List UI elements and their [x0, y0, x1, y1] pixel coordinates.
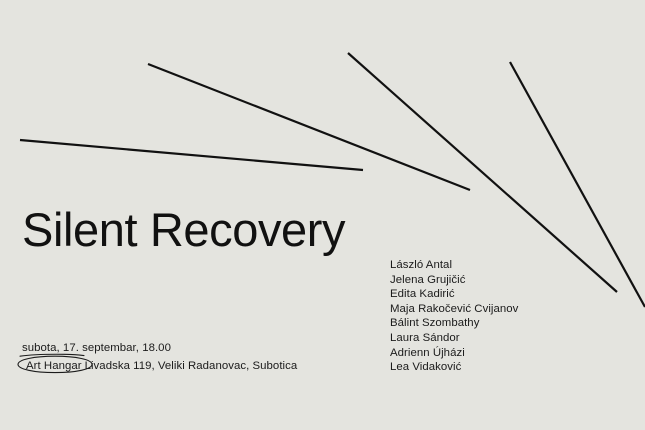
decorative-line-2 — [148, 64, 470, 190]
list-item: Jelena Grujičić — [390, 273, 518, 288]
list-item: Adrienn Újházi — [390, 346, 518, 361]
venue-name-text: Art Hangar — [26, 360, 82, 372]
event-venue-row: Art Hangar Livadska 119, Veliki Radanova… — [22, 358, 297, 376]
list-item: László Antal — [390, 258, 518, 273]
list-item: Lea Vidaković — [390, 360, 518, 375]
list-item: Laura Sándor — [390, 331, 518, 346]
poster-title: Silent Recovery — [22, 206, 345, 253]
poster-canvas: Silent Recovery László Antal Jelena Gruj… — [0, 0, 645, 430]
event-details: subota, 17. septembar, 18.00 Art Hangar … — [22, 340, 297, 375]
list-item: Maja Rakočević Cvijanov — [390, 302, 518, 317]
venue-address-text: Livadska 119, Veliki Radanovac, Subotica — [85, 360, 298, 372]
artist-list: László Antal Jelena Grujičić Edita Kadir… — [390, 258, 518, 375]
list-item: Bálint Szombathy — [390, 316, 518, 331]
event-date-row: subota, 17. septembar, 18.00 — [22, 340, 297, 358]
decorative-line-4 — [510, 62, 645, 307]
decorative-line-1 — [20, 140, 363, 170]
list-item: Edita Kadirić — [390, 287, 518, 302]
venue-name-circled: Art Hangar — [22, 358, 85, 376]
decorative-line-3 — [348, 53, 617, 292]
